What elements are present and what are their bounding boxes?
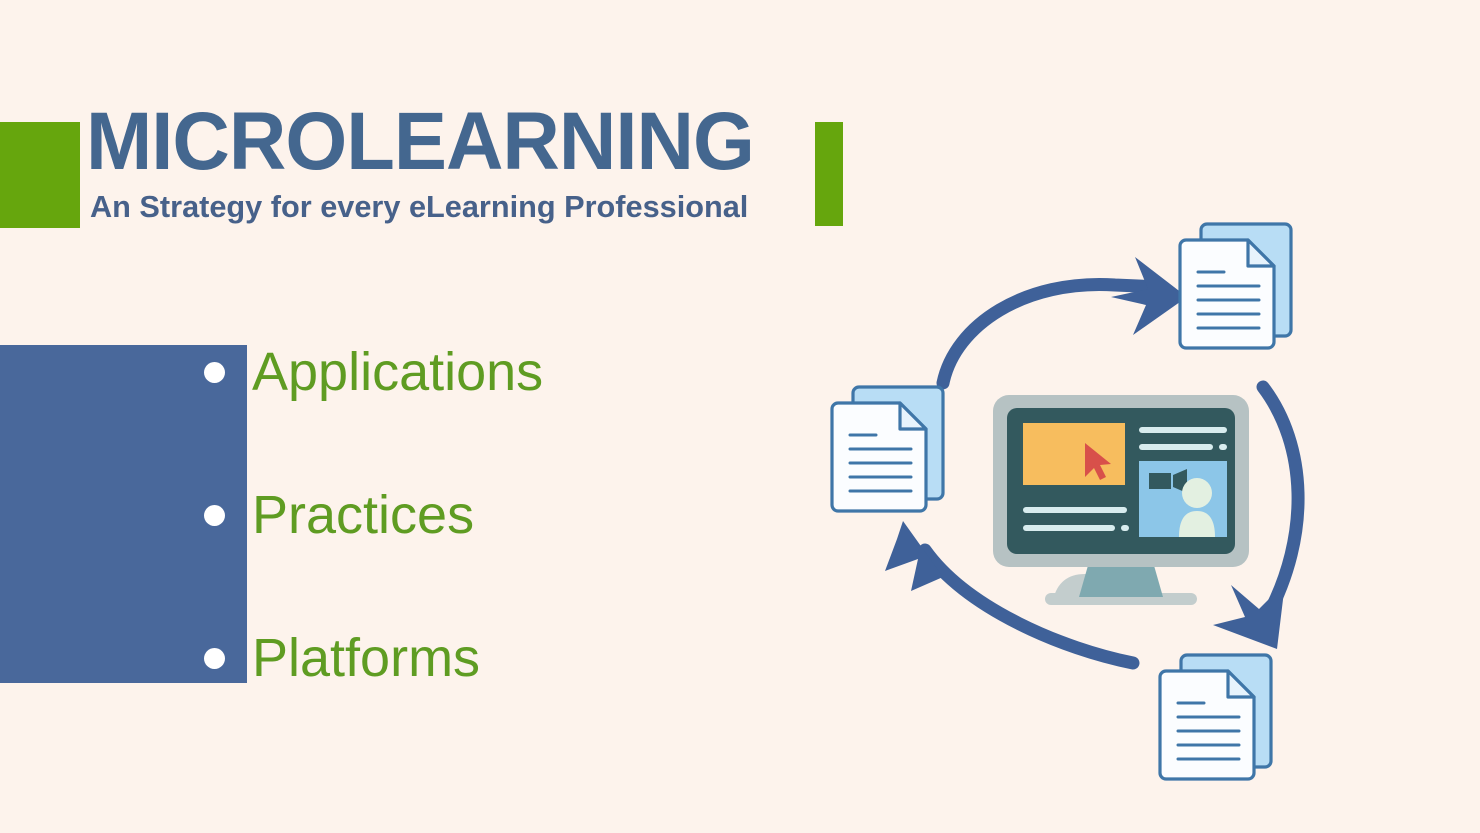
bullet-label-practices: Practices bbox=[252, 488, 474, 542]
elearning-cycle-illustration bbox=[815, 205, 1335, 805]
document-top-right bbox=[1180, 224, 1291, 348]
monitor-illustration bbox=[993, 395, 1249, 605]
document-bottom-right bbox=[1160, 655, 1271, 779]
page-title: MICROLEARNING bbox=[86, 101, 754, 183]
page-subtitle: An Strategy for every eLearning Professi… bbox=[90, 191, 748, 222]
bullet-label-platforms: Platforms bbox=[252, 631, 480, 685]
bullet-label-applications: Applications bbox=[252, 345, 543, 399]
bullet-dot-icon bbox=[204, 505, 225, 526]
slide-canvas: MICROLEARNING An Strategy for every eLea… bbox=[0, 0, 1480, 833]
bullet-dot-icon bbox=[204, 648, 225, 669]
accent-block-left bbox=[0, 122, 80, 228]
document-left bbox=[832, 387, 943, 511]
bullet-dot-icon bbox=[204, 362, 225, 383]
arrow-top-right bbox=[943, 257, 1187, 383]
